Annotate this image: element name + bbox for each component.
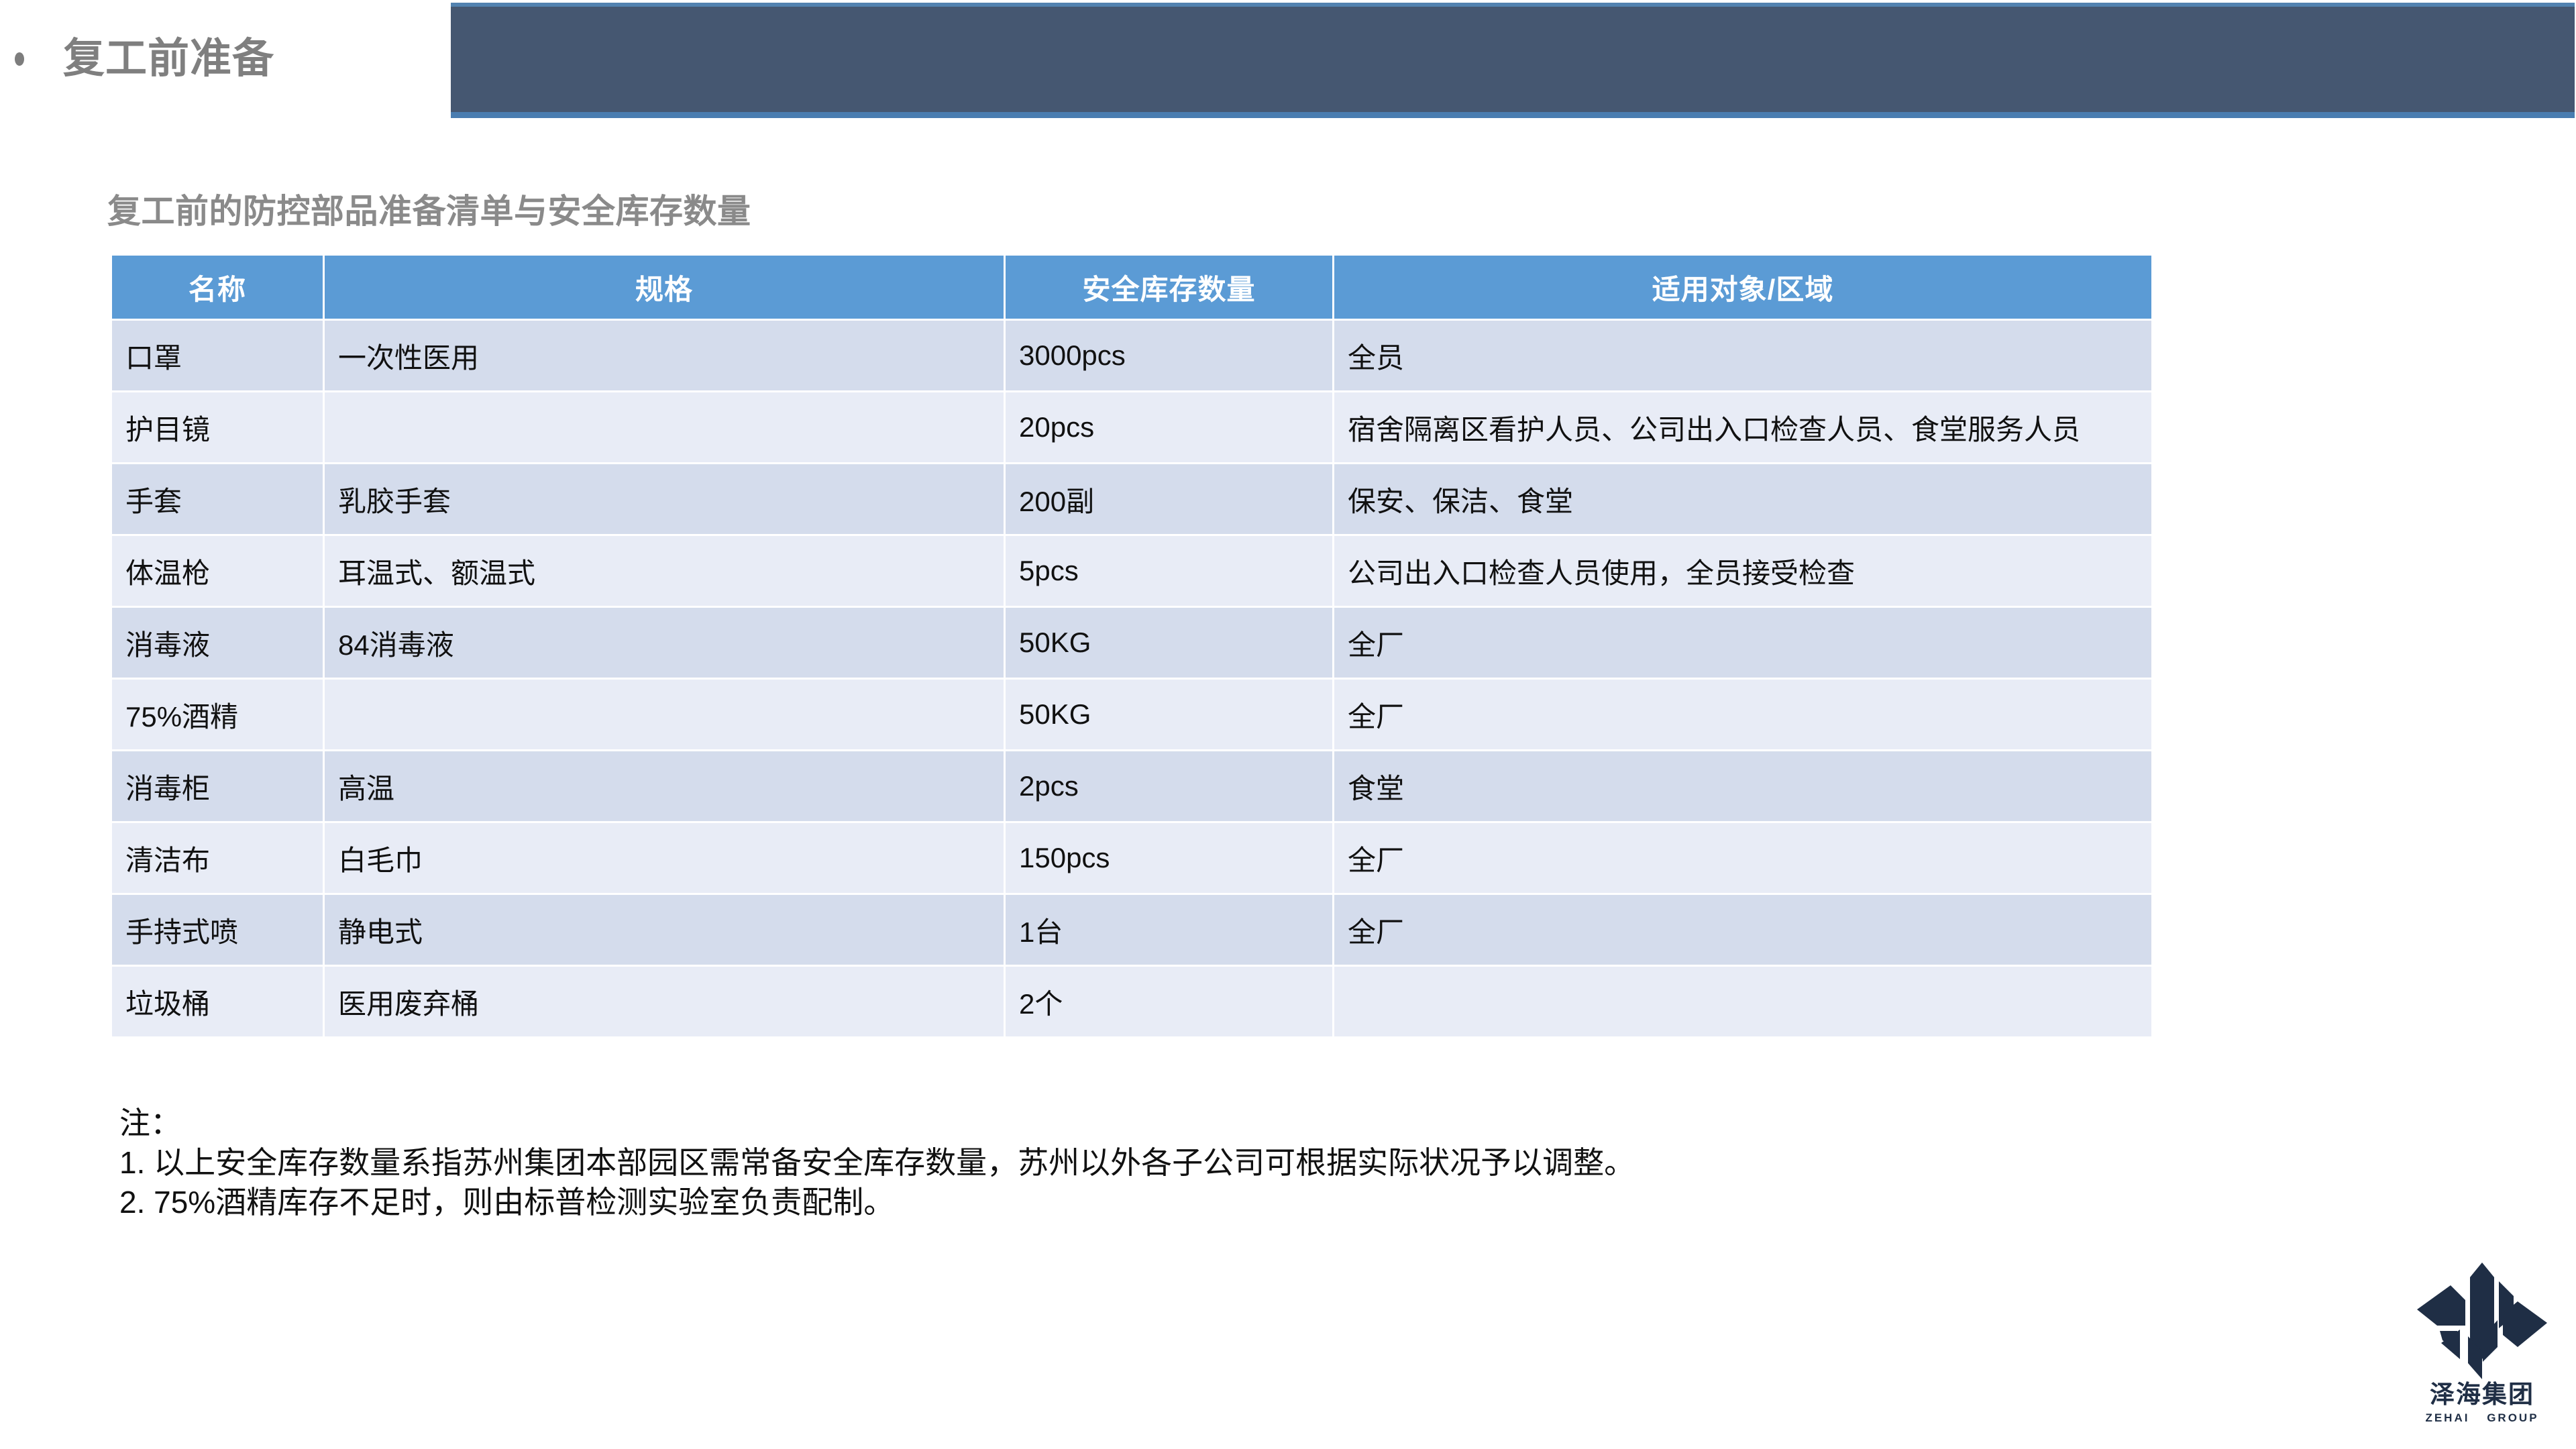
cell-qty: 20pcs [1006,392,1332,462]
table-row: 消毒柜 高温 2pcs 食堂 [112,751,2151,821]
cell-name: 垃圾桶 [112,967,323,1036]
cell-name: 手套 [112,464,323,534]
supply-table-container: 名称 规格 安全库存数量 适用对象/区域 口罩 一次性医用 3000pcs 全员… [110,254,2143,1038]
cell-qty: 50KG [1006,680,1332,749]
column-header-qty: 安全库存数量 [1006,256,1332,319]
notes-line-2: 2. 75%酒精库存不足时，则由标普检测实验室负责配制。 [119,1183,1635,1222]
logo-en-left: ZEHAI [2425,1411,2469,1424]
cell-name: 体温枪 [112,536,323,606]
cell-name: 75%酒精 [112,680,323,749]
cell-target: 全厂 [1334,895,2151,965]
table-header-row: 名称 规格 安全库存数量 适用对象/区域 [112,256,2151,319]
table-row: 75%酒精 50KG 全厂 [112,680,2151,749]
cell-target [1334,967,2151,1036]
cell-target: 食堂 [1334,751,2151,821]
column-header-spec: 规格 [325,256,1004,319]
cell-target: 全厂 [1334,823,2151,893]
supply-table: 名称 规格 安全库存数量 适用对象/区域 口罩 一次性医用 3000pcs 全员… [110,254,2153,1038]
cell-qty: 1台 [1006,895,1332,965]
cell-name: 口罩 [112,321,323,390]
cell-qty: 3000pcs [1006,321,1332,390]
cell-spec [325,680,1004,749]
cell-name: 消毒液 [112,608,323,678]
cell-qty: 200副 [1006,464,1332,534]
table-row: 手套 乳胶手套 200副 保安、保洁、食堂 [112,464,2151,534]
page-title: 复工前准备 [15,32,274,86]
cell-qty: 2个 [1006,967,1332,1036]
cell-qty: 2pcs [1006,751,1332,821]
cell-spec [325,392,1004,462]
cell-spec: 耳温式、额温式 [325,536,1004,606]
company-logo: 泽海集团 ZEHAI GROUP [2398,1261,2566,1419]
table-row: 垃圾桶 医用废弃桶 2个 [112,967,2151,1036]
notes-line-1: 1. 以上安全库存数量系指苏州集团本部园区需常备安全库存数量，苏州以外各子公司可… [119,1143,1635,1183]
table-row: 护目镜 20pcs 宿舍隔离区看护人员、公司出入口检查人员、食堂服务人员 [112,392,2151,462]
table-body: 口罩 一次性医用 3000pcs 全员 护目镜 20pcs 宿舍隔离区看护人员、… [112,321,2151,1036]
column-header-name: 名称 [112,256,323,319]
cell-target: 全厂 [1334,680,2151,749]
logo-chinese-text: 泽海集团 [2398,1382,2566,1407]
cell-name: 清洁布 [112,823,323,893]
table-row: 消毒液 84消毒液 50KG 全厂 [112,608,2151,678]
cell-spec: 医用废弃桶 [325,967,1004,1036]
column-header-target: 适用对象/区域 [1334,256,2151,319]
cell-target: 全厂 [1334,608,2151,678]
table-row: 手持式喷 静电式 1台 全厂 [112,895,2151,965]
section-subtitle: 复工前的防控部品准备清单与安全库存数量 [107,184,751,233]
slide-root: 复工前准备 复工前的防控部品准备清单与安全库存数量 名称 规格 安全库存数量 适… [0,0,2576,1449]
page-title-text: 复工前准备 [63,38,274,80]
cell-qty: 150pcs [1006,823,1332,893]
logo-english-text: ZEHAI GROUP [2398,1411,2566,1425]
logo-en-right: GROUP [2487,1411,2538,1424]
notes-label: 注： [119,1104,1635,1143]
table-row: 口罩 一次性医用 3000pcs 全员 [112,321,2151,390]
cell-spec: 一次性医用 [325,321,1004,390]
cell-name: 手持式喷 [112,895,323,965]
table-row: 体温枪 耳温式、额温式 5pcs 公司出入口检查人员使用，全员接受检查 [112,536,2151,606]
cell-spec: 白毛巾 [325,823,1004,893]
cell-spec: 静电式 [325,895,1004,965]
cell-target: 全员 [1334,321,2151,390]
zehai-diamond-mark-icon [2398,1261,2566,1381]
cell-target: 保安、保洁、食堂 [1334,464,2151,534]
cell-name: 护目镜 [112,392,323,462]
cell-name: 消毒柜 [112,751,323,821]
bullet-icon [15,52,24,66]
cell-target: 公司出入口检查人员使用，全员接受检查 [1334,536,2151,606]
table-row: 清洁布 白毛巾 150pcs 全厂 [112,823,2151,893]
notes-block: 注： 1. 以上安全库存数量系指苏州集团本部园区需常备安全库存数量，苏州以外各子… [119,1104,1635,1222]
header-decoration-band [451,3,2575,118]
cell-qty: 50KG [1006,608,1332,678]
cell-qty: 5pcs [1006,536,1332,606]
cell-spec: 乳胶手套 [325,464,1004,534]
cell-target: 宿舍隔离区看护人员、公司出入口检查人员、食堂服务人员 [1334,392,2151,462]
cell-spec: 84消毒液 [325,608,1004,678]
cell-spec: 高温 [325,751,1004,821]
